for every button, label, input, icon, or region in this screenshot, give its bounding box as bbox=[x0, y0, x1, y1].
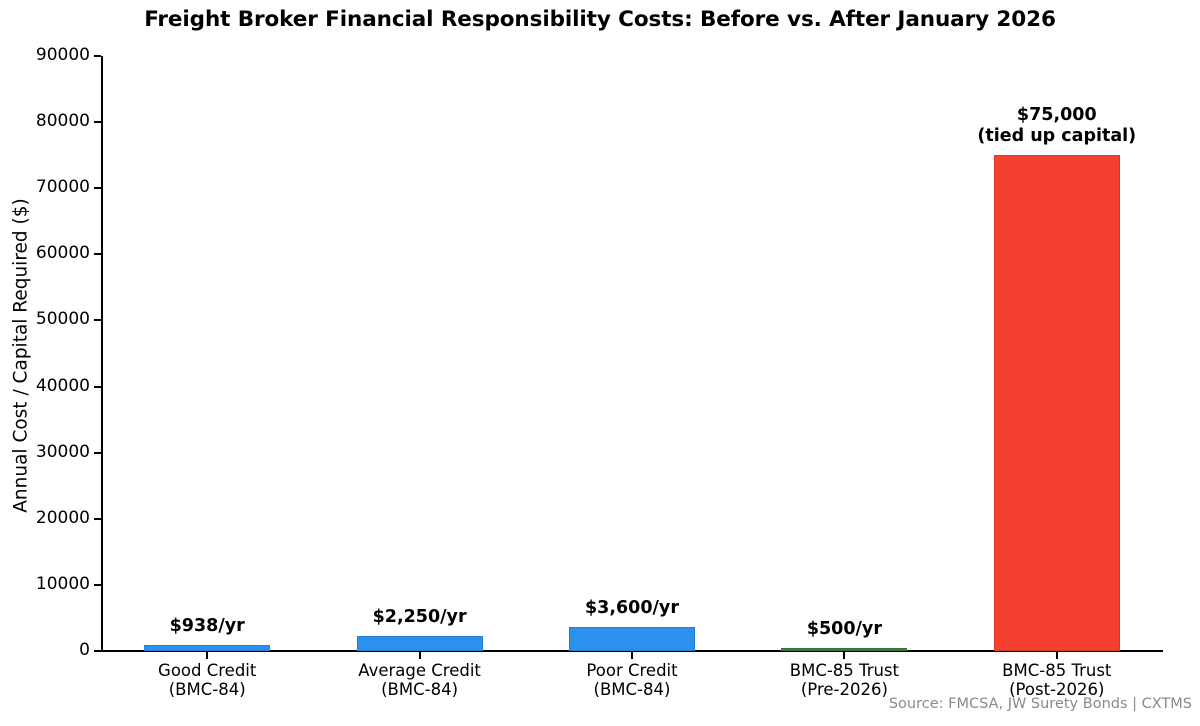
bar-rect-2[interactable] bbox=[357, 636, 483, 651]
bar-value-label-line1-1: $938/yr bbox=[170, 616, 245, 637]
x-tick-2 bbox=[419, 652, 421, 659]
x-tick-label-line2-1: (BMC-84) bbox=[101, 680, 313, 699]
x-tick-label-5: BMC-85 Trust(Post-2026) bbox=[951, 661, 1163, 700]
x-tick-label-line2-3: (BMC-84) bbox=[526, 680, 738, 699]
x-tick-5 bbox=[1056, 652, 1058, 659]
bar-value-label-4: $500/yr bbox=[807, 619, 882, 640]
bar-rect-4[interactable] bbox=[781, 648, 907, 651]
bar-value-label-5: $75,000(tied up capital) bbox=[977, 105, 1136, 147]
bar-rect-1[interactable] bbox=[144, 645, 270, 651]
x-tick-label-3: Poor Credit(BMC-84) bbox=[526, 661, 738, 700]
bar-value-label-line1-2: $2,250/yr bbox=[373, 607, 467, 628]
bar-4[interactable]: $500/yr bbox=[781, 0, 907, 651]
x-tick-label-line1-5: BMC-85 Trust bbox=[951, 661, 1163, 680]
x-tick-1 bbox=[206, 652, 208, 659]
bar-1[interactable]: $938/yr bbox=[144, 0, 270, 651]
x-tick-label-line1-1: Good Credit bbox=[101, 661, 313, 680]
x-tick-label-line2-2: (BMC-84) bbox=[313, 680, 525, 699]
bar-3[interactable]: $3,600/yr bbox=[569, 0, 695, 651]
bar-2[interactable]: $2,250/yr bbox=[357, 0, 483, 651]
source-annotation: Source: FMCSA, JW Surety Bonds | CXTMS bbox=[889, 696, 1192, 712]
x-tick-label-line1-3: Poor Credit bbox=[526, 661, 738, 680]
x-tick-label-2: Average Credit(BMC-84) bbox=[313, 661, 525, 700]
bar-value-label-1: $938/yr bbox=[170, 616, 245, 637]
bars-layer: $938/yr$2,250/yr$3,600/yr$500/yr$75,000(… bbox=[0, 0, 1200, 651]
bar-5[interactable]: $75,000(tied up capital) bbox=[994, 0, 1120, 651]
bar-value-label-line1-4: $500/yr bbox=[807, 619, 882, 640]
x-tick-label-4: BMC-85 Trust(Pre-2026) bbox=[738, 661, 950, 700]
bar-value-label-3: $3,600/yr bbox=[585, 598, 679, 619]
bar-value-label-line1-5: $75,000 bbox=[977, 105, 1136, 126]
bar-value-label-line2-5: (tied up capital) bbox=[977, 126, 1136, 147]
bar-rect-5[interactable] bbox=[994, 155, 1120, 651]
x-tick-label-line1-2: Average Credit bbox=[313, 661, 525, 680]
x-tick-4 bbox=[843, 652, 845, 659]
x-tick-label-line1-4: BMC-85 Trust bbox=[738, 661, 950, 680]
x-tick-3 bbox=[631, 652, 633, 659]
bar-value-label-2: $2,250/yr bbox=[373, 607, 467, 628]
bar-rect-3[interactable] bbox=[569, 627, 695, 651]
bar-value-label-line1-3: $3,600/yr bbox=[585, 598, 679, 619]
chart-figure: Freight Broker Financial Responsibility … bbox=[0, 0, 1200, 726]
x-tick-label-1: Good Credit(BMC-84) bbox=[101, 661, 313, 700]
